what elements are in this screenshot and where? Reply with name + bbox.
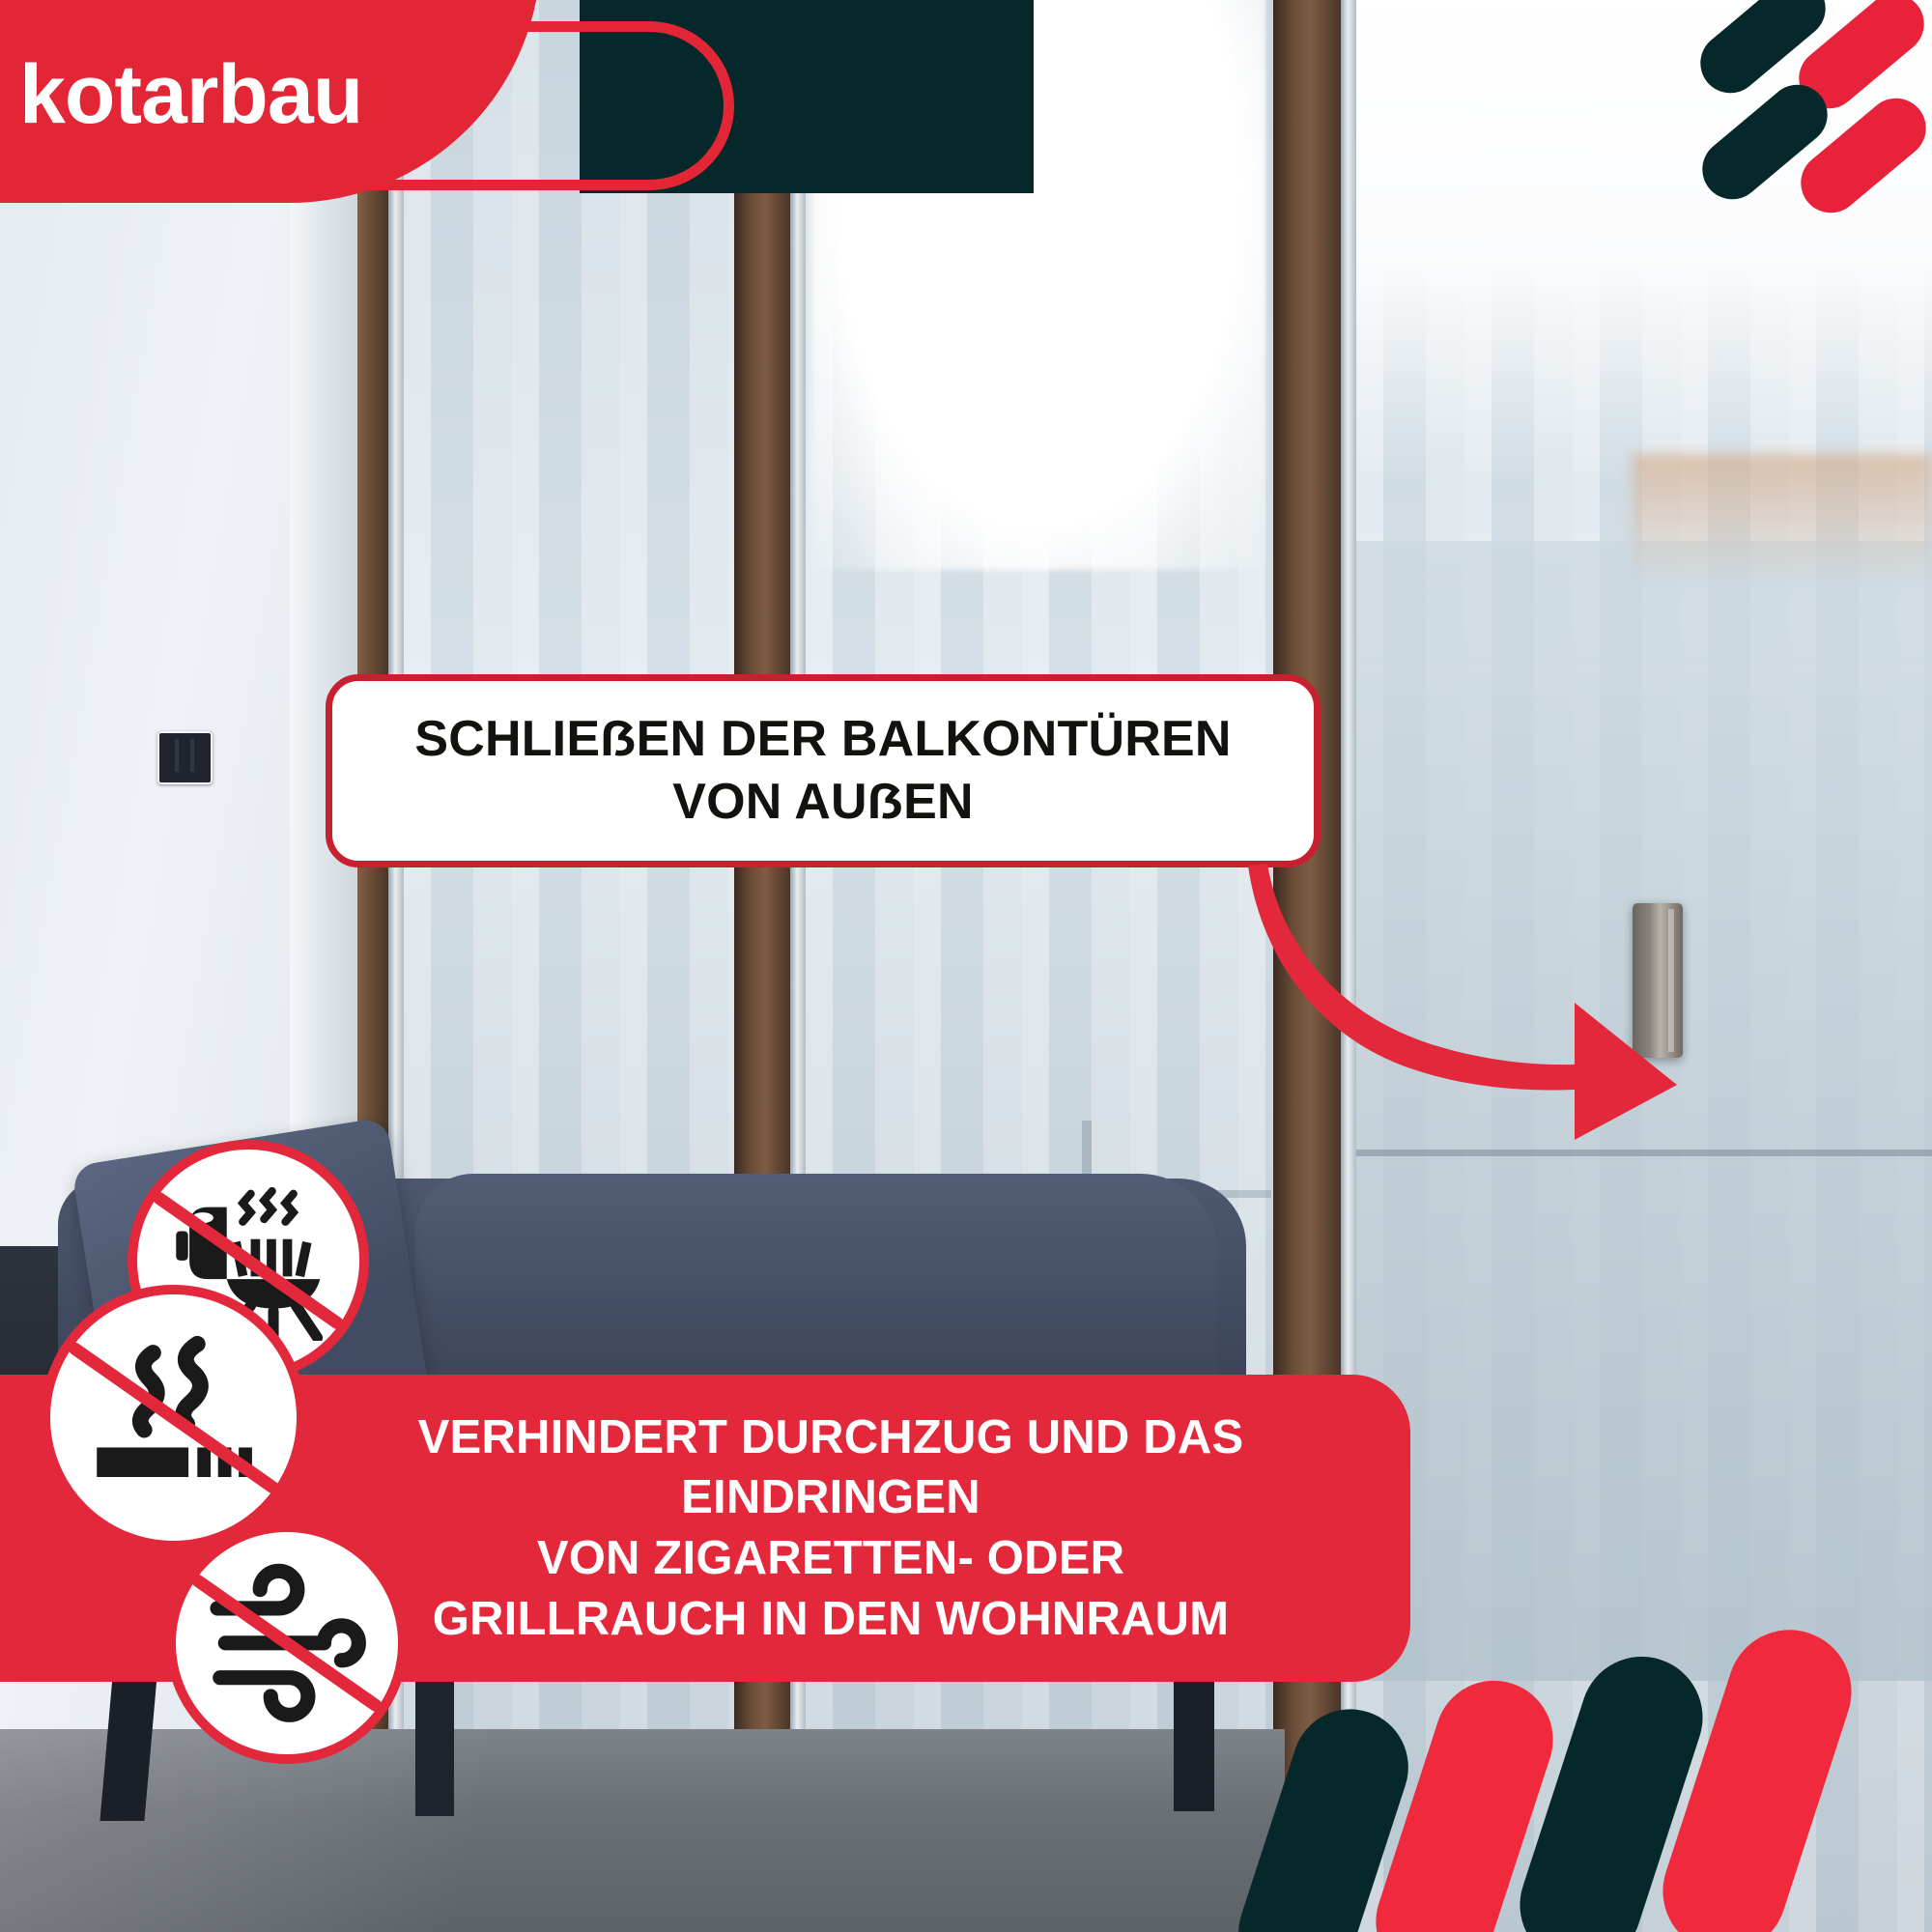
arrow-icon: [1246, 850, 1681, 1140]
headline-card: SCHLIEẞEN DER BALKONTÜREN VON AUẞEN: [326, 674, 1321, 867]
sofa-leg: [415, 1676, 454, 1816]
balcony-warm-glow: [1633, 454, 1932, 589]
headline-line-1: SCHLIEẞEN DER BALKONTÜREN: [414, 711, 1231, 767]
banner-line-2: VON ZIGARETTEN- ODER: [537, 1532, 1124, 1584]
sofa-leg: [1174, 1676, 1214, 1811]
headline-text: SCHLIEẞEN DER BALKONTÜREN VON AUẞEN: [414, 708, 1231, 834]
banner-line-1: VERHINDERT DURCHZUG UND DAS EINDRINGEN: [418, 1411, 1244, 1524]
headline-line-2: VON AUẞEN: [672, 774, 974, 830]
sofa-cushion-right: [415, 1174, 1217, 1396]
top-right-decoration: [1681, 0, 1932, 222]
brand-name: kotarbau: [19, 37, 425, 153]
balcony-rail-line: [1356, 1150, 1932, 1156]
poster-canvas: kotarbau SCHLIEẞEN DER BALKONTÜREN VON A…: [0, 0, 1932, 1932]
pointer-arrow: [1246, 850, 1681, 1140]
floor-sheen: [0, 1729, 676, 1932]
no-smoking-badge: [41, 1285, 306, 1550]
brand-logo[interactable]: kotarbau: [0, 0, 792, 208]
banner-text: VERHINDERT DURCHZUG UND DAS EINDRINGEN V…: [270, 1407, 1391, 1650]
light-switch-icon: [157, 731, 213, 784]
no-draft-badge: [166, 1522, 408, 1764]
banner-line-3: GRILLRAUCH IN DEN WOHNRAUM: [433, 1593, 1230, 1645]
